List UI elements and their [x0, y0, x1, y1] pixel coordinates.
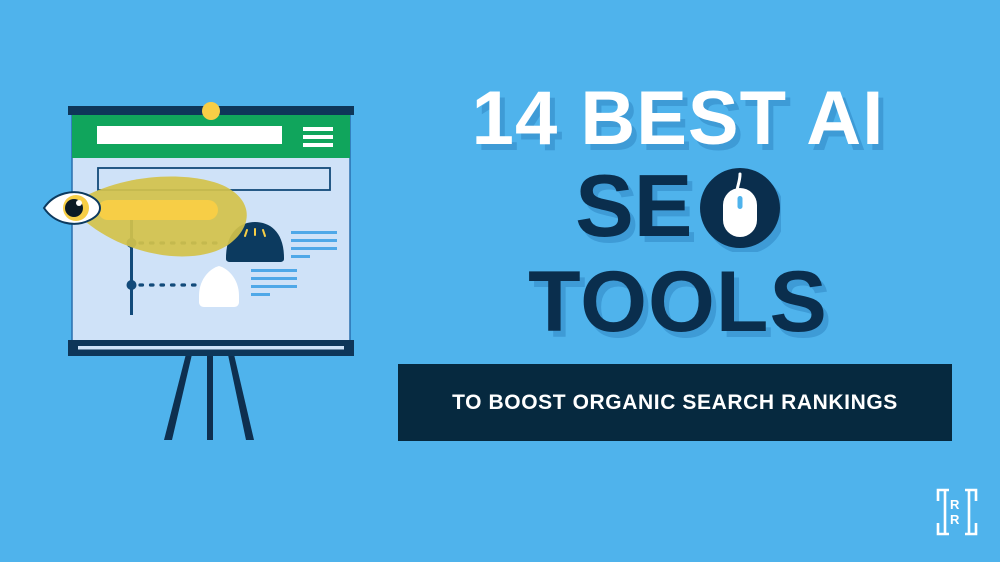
- timeline-node: [127, 280, 137, 290]
- subtitle-banner: TO BOOST ORGANIC SEARCH RANKINGS: [398, 364, 952, 441]
- bottom-rail-stripe: [78, 346, 344, 350]
- rr-bracket-logo[interactable]: R R: [936, 488, 978, 536]
- eye-icon: [44, 192, 100, 224]
- mouse-icon: [699, 160, 781, 252]
- headline-block: 14 BEST AI SE: [400, 84, 956, 344]
- headline-line-3: TOOLS: [400, 260, 956, 344]
- logo-letter-r-bottom: R: [950, 512, 960, 527]
- headline-line-2-text: SE: [575, 160, 692, 252]
- headline-line-2: SE: [575, 160, 781, 252]
- board-knob: [202, 102, 220, 120]
- poster-canvas: 14 BEST AI SE: [0, 0, 1000, 562]
- logo-letter-r-top: R: [950, 497, 960, 512]
- subtitle-text: TO BOOST ORGANIC SEARCH RANKINGS: [452, 391, 898, 415]
- highlighted-result-pill[interactable]: [98, 200, 218, 220]
- hamburger-menu-icon[interactable]: [303, 127, 333, 147]
- browser-search-field[interactable]: [97, 126, 282, 144]
- easel-legs: [164, 350, 254, 440]
- headline-line-1: 14 BEST AI: [400, 84, 956, 154]
- seo-presentation-illustration: [0, 0, 400, 562]
